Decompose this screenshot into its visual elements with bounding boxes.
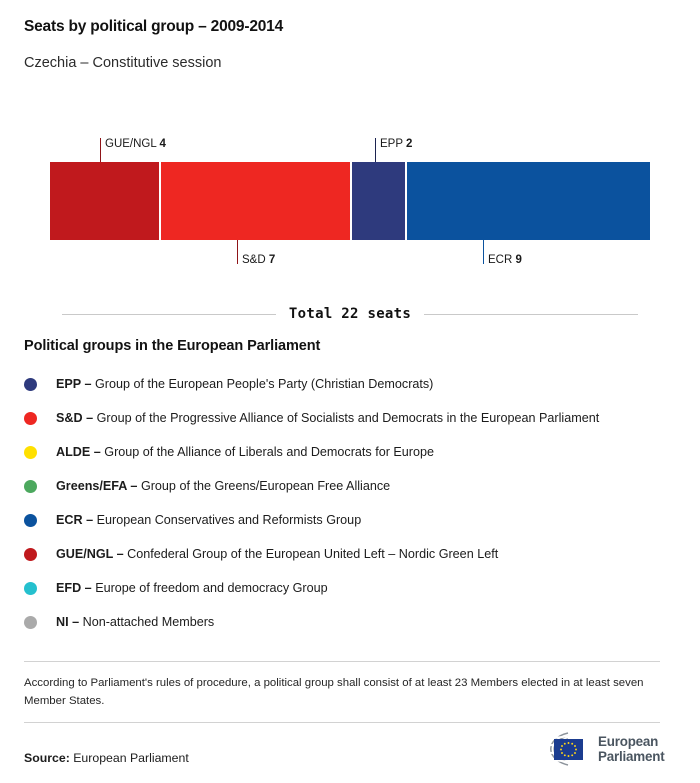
source-line: Source: European Parliament <box>24 751 189 765</box>
total-seats-row: Total 22 seats <box>0 306 700 322</box>
eu-flag-icon <box>554 739 583 760</box>
legend-dot-guengl <box>24 548 37 561</box>
bar-segment-s-d[interactable] <box>159 162 350 240</box>
source-value: European Parliament <box>73 751 189 765</box>
legend-item-name: Europe of freedom and democracy Group <box>95 581 327 595</box>
legend-item-label: ECR – European Conservatives and Reformi… <box>56 513 361 527</box>
bar-segment-gue-ngl[interactable] <box>50 162 159 240</box>
bar-label-tick-gue-ngl <box>100 138 101 162</box>
list-item[interactable]: EFD – Europe of freedom and democracy Gr… <box>24 571 684 605</box>
bar-label-value: 4 <box>160 138 166 150</box>
legend-item-abbr: ALDE – <box>56 445 104 459</box>
legend-item-name: European Conservatives and Reformists Gr… <box>97 513 362 527</box>
legend-item-abbr: EFD – <box>56 581 95 595</box>
source-label: Source: <box>24 751 70 765</box>
list-item[interactable]: Greens/EFA – Group of the Greens/Europea… <box>24 469 684 503</box>
bar-label-name: EPP <box>380 138 406 150</box>
legend-dot-sd <box>24 412 37 425</box>
legend-item-label: S&D – Group of the Progressive Alliance … <box>56 411 599 425</box>
legend-item-abbr: S&D – <box>56 411 97 425</box>
page-title: Seats by political group – 2009-2014 <box>24 18 676 36</box>
divider-right <box>424 314 638 315</box>
legend-dot-efd <box>24 582 37 595</box>
list-item[interactable]: EPP – Group of the European People's Par… <box>24 367 684 401</box>
legend-dot-epp <box>24 378 37 391</box>
chart-header: Seats by political group – 2009-2014 Cze… <box>0 0 700 71</box>
bar-segment-epp[interactable] <box>350 162 405 240</box>
footnote-box: According to Parliament's rules of proce… <box>24 661 660 723</box>
total-seats-label: Total 22 seats <box>276 306 424 322</box>
bar-segment-ecr[interactable] <box>405 162 650 240</box>
legend-item-label: NI – Non-attached Members <box>56 615 214 629</box>
bar-label-value: 7 <box>269 254 275 266</box>
bar-label-gue-ngl: GUE/NGL 4 <box>105 138 166 150</box>
legend-items: EPP – Group of the European People's Par… <box>24 367 684 639</box>
legend-item-abbr: GUE/NGL – <box>56 547 127 561</box>
bar-label-value: 9 <box>515 254 521 266</box>
list-item[interactable]: GUE/NGL – Confederal Group of the Europe… <box>24 537 684 571</box>
legend-item-abbr: NI – <box>56 615 83 629</box>
legend-dot-greens <box>24 480 37 493</box>
legend-item-name: Group of the Alliance of Liberals and De… <box>104 445 434 459</box>
divider-left <box>62 314 276 315</box>
legend-item-label: Greens/EFA – Group of the Greens/Europea… <box>56 479 390 493</box>
bar-label-name: ECR <box>488 254 515 266</box>
legend-item-label: ALDE – Group of the Alliance of Liberals… <box>56 445 434 459</box>
footnote-text: According to Parliament's rules of proce… <box>24 675 660 710</box>
page-subtitle: Czechia – Constitutive session <box>24 55 676 71</box>
legend-item-abbr: EPP – <box>56 377 95 391</box>
legend-item-abbr: Greens/EFA – <box>56 479 141 493</box>
bar-label-value: 2 <box>406 138 412 150</box>
european-parliament-logo: European Parliament <box>528 729 676 769</box>
list-item[interactable]: NI – Non-attached Members <box>24 605 684 639</box>
legend-dot-alde <box>24 446 37 459</box>
bar-label-name: S&D <box>242 254 269 266</box>
legend-item-name: Non-attached Members <box>83 615 215 629</box>
logo-wordmark: European Parliament <box>598 734 664 764</box>
bar-label-epp: EPP 2 <box>380 138 412 150</box>
bar-label-tick-s-d <box>237 240 238 264</box>
legend-dot-ni <box>24 616 37 629</box>
legend: Political groups in the European Parliam… <box>24 338 684 639</box>
legend-item-label: EFD – Europe of freedom and democracy Gr… <box>56 581 328 595</box>
bar-label-tick-ecr <box>483 240 484 264</box>
bar-label-tick-epp <box>375 138 376 162</box>
bar-track <box>50 162 650 240</box>
logo-line-2: Parliament <box>598 749 664 764</box>
legend-item-label: EPP – Group of the European People's Par… <box>56 377 433 391</box>
bar-label-ecr: ECR 9 <box>488 254 522 266</box>
legend-item-label: GUE/NGL – Confederal Group of the Europe… <box>56 547 498 561</box>
legend-item-name: Group of the European People's Party (Ch… <box>95 377 433 391</box>
legend-heading: Political groups in the European Parliam… <box>24 338 684 354</box>
logo-line-1: European <box>598 734 664 749</box>
bar-label-name: GUE/NGL <box>105 138 160 150</box>
bar-label-s-d: S&D 7 <box>242 254 275 266</box>
stacked-bar-chart: GUE/NGL 4S&D 7EPP 2ECR 9 <box>0 125 700 285</box>
list-item[interactable]: ECR – European Conservatives and Reformi… <box>24 503 684 537</box>
legend-item-name: Confederal Group of the European United … <box>127 547 498 561</box>
legend-item-name: Group of the Greens/European Free Allian… <box>141 479 390 493</box>
legend-dot-ecr <box>24 514 37 527</box>
list-item[interactable]: ALDE – Group of the Alliance of Liberals… <box>24 435 684 469</box>
list-item[interactable]: S&D – Group of the Progressive Alliance … <box>24 401 684 435</box>
legend-item-abbr: ECR – <box>56 513 97 527</box>
hemicycle-icon <box>528 730 592 768</box>
legend-item-name: Group of the Progressive Alliance of Soc… <box>97 411 600 425</box>
